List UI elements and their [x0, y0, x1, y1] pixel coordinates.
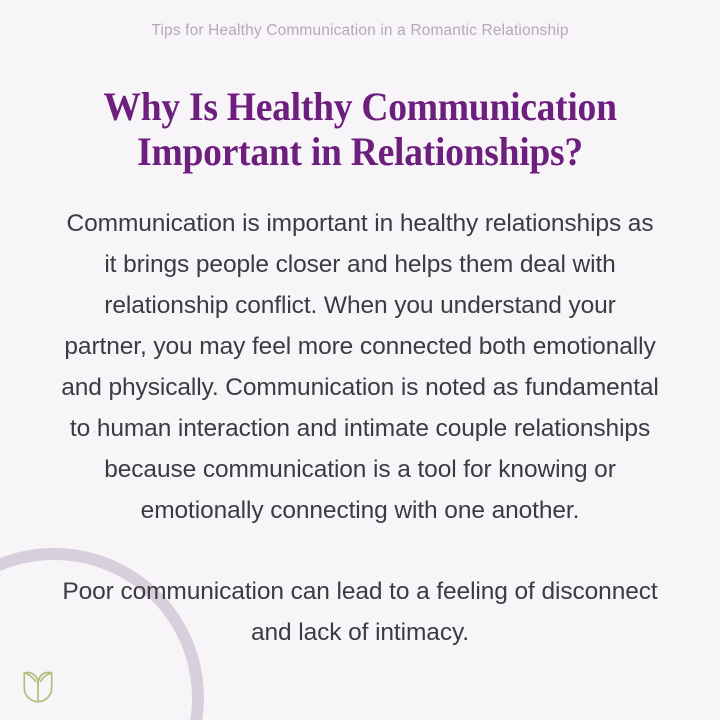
brand-logo: [14, 663, 62, 711]
tagline: Tips for Healthy Communication in a Roma…: [151, 22, 568, 40]
lotus-flower-icon: [14, 663, 62, 711]
page-title: Why Is Healthy Communication Important i…: [103, 84, 616, 174]
page-title-line-2: Important in Relationships?: [137, 129, 583, 174]
poster-canvas: Tips for Healthy Communication in a Roma…: [0, 0, 720, 720]
body-paragraph-1: Communication is important in healthy re…: [60, 204, 660, 531]
page-title-line-1: Why Is Healthy Communication: [103, 84, 616, 129]
poster-content: Tips for Healthy Communication in a Roma…: [0, 0, 720, 720]
body-paragraph-2: Poor communication can lead to a feeling…: [60, 572, 660, 654]
body-text-block: Communication is important in healthy re…: [60, 204, 660, 653]
